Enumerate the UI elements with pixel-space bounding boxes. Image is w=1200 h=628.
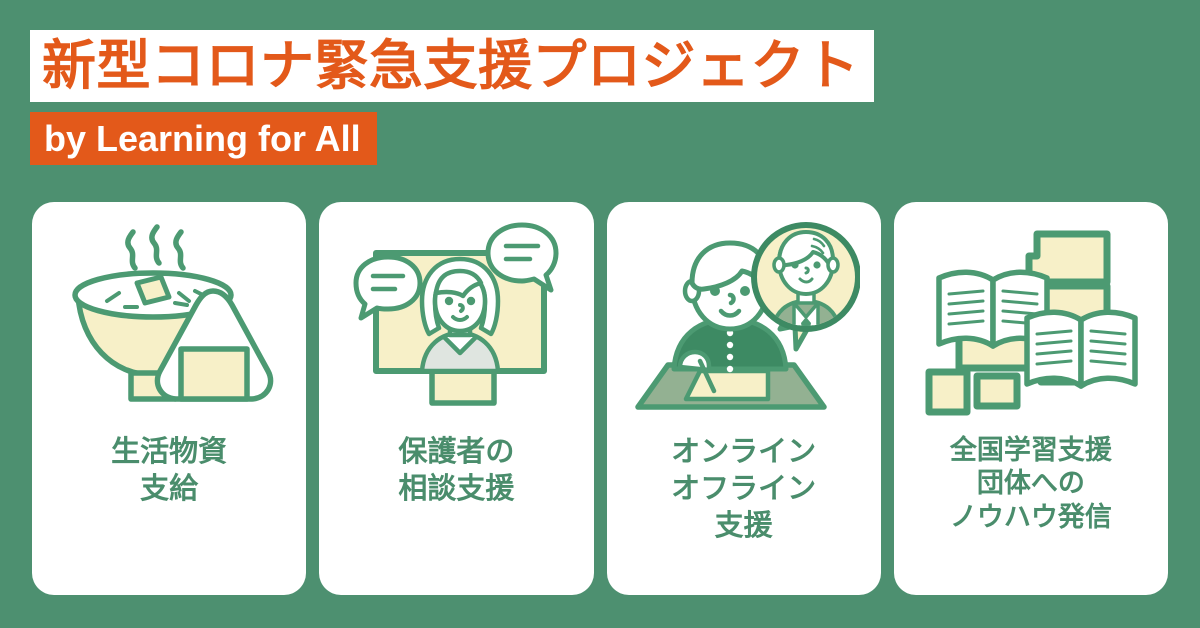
- subtitle-band: by Learning for All: [30, 112, 377, 165]
- card-nationwide-knowhow[interactable]: 全国学習支援 団体への ノウハウ発信: [894, 202, 1168, 595]
- student-desk-teacher-icon: [628, 221, 860, 421]
- card-art: [319, 202, 593, 434]
- card-label: 全国学習支援 団体への ノウハウ発信: [944, 434, 1118, 534]
- card-art: [894, 202, 1168, 434]
- card-label: 生活物資 支給: [105, 434, 233, 508]
- card-art: [607, 202, 881, 434]
- page-subtitle: by Learning for All: [44, 121, 361, 157]
- card-online-offline-support[interactable]: オンライン オフライン 支援: [607, 202, 881, 595]
- video-call-monitor-icon: [340, 221, 572, 421]
- card-label: 保護者の 相談支援: [392, 434, 520, 508]
- cards-row: 生活物資 支給: [32, 202, 1168, 595]
- card-art: [32, 202, 306, 434]
- page-title: 新型コロナ緊急支援プロジェクト: [42, 39, 860, 93]
- title-band: 新型コロナ緊急支援プロジェクト: [30, 30, 874, 102]
- rice-bowl-onigiri-icon: [61, 221, 277, 421]
- card-guardian-consultation[interactable]: 保護者の 相談支援: [319, 202, 593, 595]
- card-label: オンライン オフライン 支援: [665, 434, 822, 545]
- japan-map-books-icon: [919, 226, 1143, 416]
- card-living-supplies[interactable]: 生活物資 支給: [32, 202, 306, 595]
